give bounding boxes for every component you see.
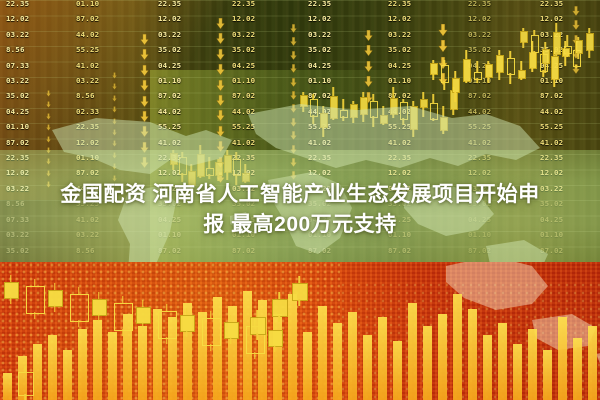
bar [513, 344, 522, 400]
arrow-down-icon [572, 20, 580, 34]
quote-value: 03.22 [468, 27, 491, 42]
quote-value: 41.02 [76, 58, 99, 73]
arrow-down-icon [290, 78, 297, 91]
arrow-down-icon [290, 37, 297, 50]
candlestick [520, 28, 526, 48]
bar [573, 338, 582, 400]
candlestick [575, 37, 581, 59]
arrow-down-icon [216, 18, 225, 33]
candlestick [158, 304, 175, 344]
arrow-down-icon [112, 72, 117, 83]
candlestick [507, 51, 513, 84]
arrow-down-icon [140, 65, 149, 80]
candlestick [292, 276, 306, 306]
candlestick [92, 292, 105, 321]
quote-value: 35.02 [468, 42, 491, 57]
arrow-down-icon [216, 49, 225, 64]
candlestick [474, 61, 480, 83]
bar [423, 326, 432, 400]
quote-value: 8.56 [6, 42, 29, 57]
arrow-down-icon [572, 6, 580, 20]
quote-value: 35.02 [388, 42, 411, 57]
arrow-down-icon [216, 64, 225, 79]
candlestick [463, 50, 469, 83]
quote-value: 04.25 [308, 58, 331, 73]
candlestick [485, 61, 491, 83]
candlestick [202, 311, 219, 351]
candlestick [250, 310, 264, 340]
arrow-down-icon [364, 61, 373, 76]
quote-value: 12.02 [232, 11, 255, 26]
candlestick [268, 323, 281, 352]
candlestick [4, 275, 17, 304]
bar [318, 306, 327, 400]
bar [543, 350, 552, 400]
bar [528, 329, 537, 400]
bar [408, 303, 417, 400]
quote-value: 04.25 [158, 58, 181, 73]
candlestick [542, 42, 548, 73]
candlestick [70, 287, 87, 327]
candlestick [272, 292, 286, 322]
candlestick [180, 308, 193, 337]
candlestick [531, 30, 537, 60]
quote-value: 03.22 [6, 27, 29, 42]
candlestick [564, 35, 570, 57]
candlestick [18, 366, 32, 400]
quote-value: 04.25 [232, 58, 255, 73]
bar [348, 312, 357, 400]
quote-value: 12.02 [388, 11, 411, 26]
bar [498, 323, 507, 400]
bar [303, 332, 312, 400]
arrow-down-icon [216, 33, 225, 48]
bar [558, 317, 567, 400]
quote-value: 22.35 [468, 0, 491, 11]
quote-value: 03.22 [76, 73, 99, 88]
arrow-down-icon [364, 45, 373, 60]
candlestick [48, 283, 61, 312]
quote-value: 22.35 [388, 0, 411, 11]
green-wash-band-overlay [0, 150, 600, 262]
arrow-down-icon [290, 51, 297, 64]
quote-value: 22.35 [158, 0, 181, 11]
banner-image: 22.3512.0203.228.5607.3303.2235.0204.250… [0, 0, 600, 400]
arrow-down-icon [290, 24, 297, 37]
quote-value: 22.35 [540, 0, 563, 11]
quote-value: 22.35 [6, 0, 29, 11]
candlestick [518, 61, 524, 80]
quote-value: 22.35 [308, 0, 331, 11]
bar [378, 317, 387, 400]
arrow-down-icon [140, 80, 149, 95]
bar [393, 341, 402, 400]
quote-value: 01.10 [232, 73, 255, 88]
quote-value: 01.10 [308, 73, 331, 88]
candlestick [441, 60, 447, 90]
arrow-down-icon [438, 40, 448, 56]
quote-value: 04.25 [388, 58, 411, 73]
quote-value: 35.02 [232, 42, 255, 57]
quote-value: 01.10 [76, 0, 99, 11]
quote-value: 35.02 [158, 42, 181, 57]
arrow-down-icon [364, 76, 373, 91]
bottom-left-candlestick-chart [0, 262, 300, 400]
bar [453, 294, 462, 400]
quote-value: 35.02 [308, 42, 331, 57]
quote-value: 55.25 [76, 42, 99, 57]
quote-value: 03.22 [158, 27, 181, 42]
quote-value: 44.02 [76, 27, 99, 42]
quote-value: 87.02 [76, 11, 99, 26]
quote-value: 03.22 [308, 27, 331, 42]
bar [588, 326, 597, 400]
quote-value: 01.10 [158, 73, 181, 88]
bar [483, 335, 492, 400]
arrow-down-icon [140, 49, 149, 64]
quote-value: 12.02 [540, 11, 563, 26]
arrow-down-icon [216, 80, 225, 95]
arrow-down-icon [112, 83, 117, 94]
arrow-down-icon [438, 24, 448, 40]
candlestick [26, 279, 43, 319]
candlestick [496, 50, 502, 80]
candlestick [224, 315, 237, 344]
quote-value: 12.02 [468, 11, 491, 26]
candlestick [553, 23, 559, 56]
arrow-down-icon [290, 64, 297, 77]
quote-value: 03.22 [232, 27, 255, 42]
quote-value: 07.33 [6, 58, 29, 73]
quote-value: 12.02 [308, 11, 331, 26]
candlestick [586, 28, 592, 58]
bar [468, 309, 477, 400]
quote-value: 03.22 [388, 27, 411, 42]
bar [363, 335, 372, 400]
quote-value: 03.22 [6, 73, 29, 88]
arrow-down-icon [364, 30, 373, 45]
bar [438, 314, 447, 400]
candlestick [114, 296, 131, 336]
quote-value: 12.02 [158, 11, 181, 26]
candlestick [551, 51, 557, 87]
candlestick [430, 60, 436, 80]
bar [333, 323, 342, 400]
candlestick [136, 300, 149, 329]
quote-value: 22.35 [232, 0, 255, 11]
quote-value: 12.02 [6, 11, 29, 26]
arrow-down-icon [140, 34, 149, 49]
